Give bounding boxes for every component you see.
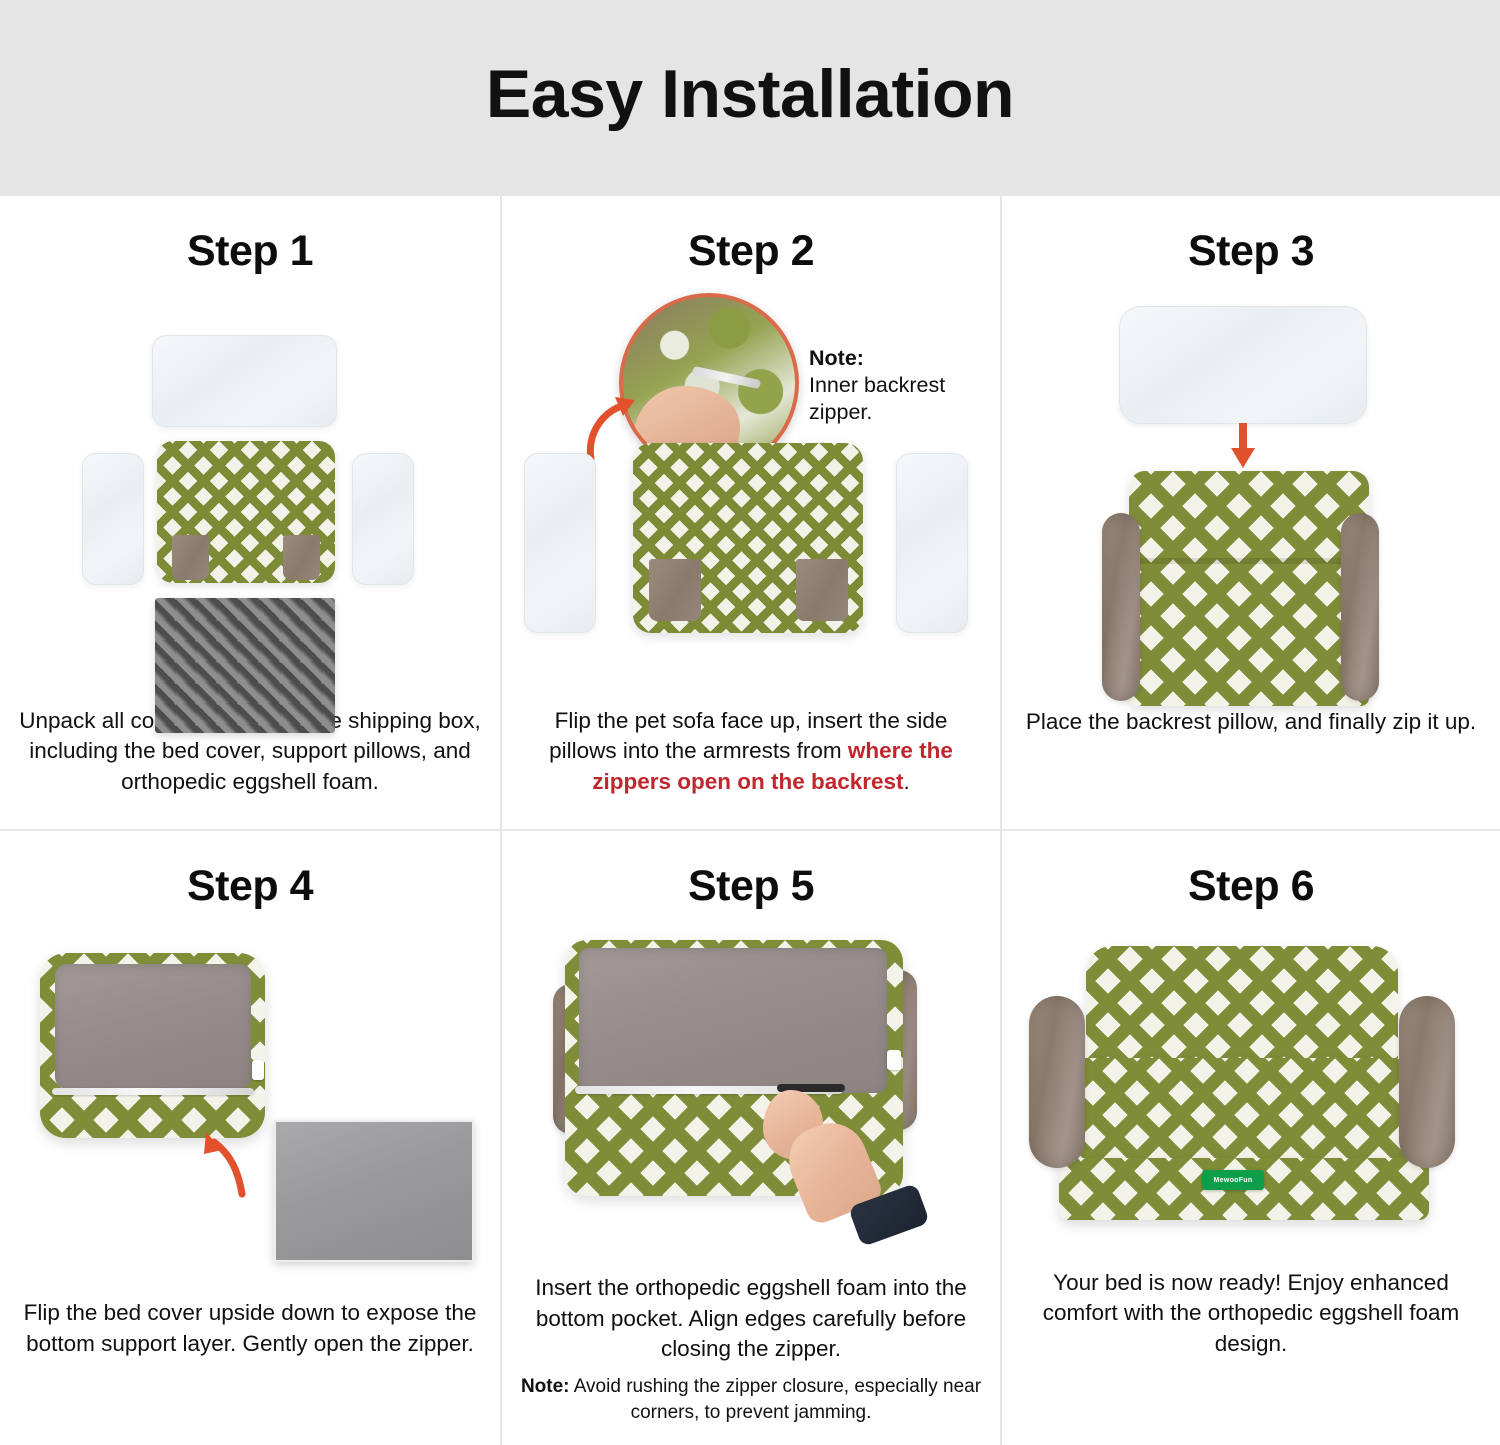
step-panel-6: Step 6 MewooFun Your bed is now ready! E…: [1000, 829, 1500, 1445]
backrest-pillow: [1119, 306, 1367, 424]
step-caption-3: Place the backrest pillow, and finally z…: [1015, 707, 1487, 737]
sofa-body: [1129, 471, 1369, 706]
foam-board: [274, 1120, 474, 1262]
note-callout: Note: Inner backrest zipper.: [809, 345, 1000, 426]
note-label-text: Note:: [809, 345, 1000, 372]
note-detail-text: Inner backrest zipper.: [809, 372, 1000, 426]
step-caption-5: Insert the orthopedic eggshell foam into…: [515, 1273, 987, 1364]
arrow-curve-icon: [198, 1128, 250, 1198]
backrest-fold: [1129, 558, 1369, 564]
arrow-down-icon: [1229, 423, 1257, 469]
step-4-illustration: [0, 908, 500, 1298]
bottom-support-layer: [55, 964, 251, 1089]
side-pillow-right: [896, 453, 968, 633]
step-5-note: Note: Avoid rushing the zipper closure, …: [508, 1374, 994, 1425]
side-pillow-left: [524, 453, 596, 633]
zipper-icon: [692, 366, 761, 389]
step-caption-6: Your bed is now ready! Enjoy enhanced co…: [1015, 1268, 1487, 1359]
zipper-pull-tab: [887, 1050, 901, 1070]
step-title-1: Step 1: [187, 230, 313, 273]
sofa-seat: [1071, 1058, 1416, 1168]
step-panel-2: Step 2 Note: Inner backrest zipper.: [500, 196, 1000, 829]
armrest-right: [1399, 996, 1455, 1168]
bed-cover-pocket-right: [283, 535, 320, 580]
note-detail-text: Avoid rushing the zipper closure, especi…: [570, 1376, 982, 1422]
step-panel-4: Step 4 Flip the bed cover upside down to…: [0, 829, 500, 1445]
bottom-support-layer: [579, 948, 887, 1093]
step-panel-3: Step 3 Place the backrest pillow, and fi…: [1000, 196, 1500, 829]
step-caption-4: Flip the bed cover upside down to expose…: [14, 1298, 486, 1359]
brand-tag-label: MewooFun: [1214, 1177, 1253, 1184]
step-2-illustration: Note: Inner backrest zipper.: [501, 273, 1000, 706]
step-title-6: Step 6: [1188, 865, 1314, 908]
step-title-5: Step 5: [688, 865, 814, 908]
eggshell-foam: [155, 598, 335, 733]
step-panel-5: Step 5 Insert the ortho: [500, 829, 1000, 1445]
page-header: Easy Installation: [0, 0, 1500, 196]
armrest-pocket-right: [796, 559, 848, 621]
step-title-4: Step 4: [187, 865, 313, 908]
sofa-backrest: [1086, 946, 1398, 1064]
side-pillow-left: [82, 453, 144, 585]
step-title-3: Step 3: [1188, 230, 1314, 273]
installation-guide-page: Easy Installation Step 1 Unpack all comp…: [0, 0, 1500, 1445]
backrest-pillow: [152, 335, 337, 427]
armrest-right: [1341, 513, 1379, 701]
caption-text-post: .: [904, 769, 910, 794]
step-5-illustration: [501, 908, 1000, 1273]
zipper-line: [52, 1088, 254, 1095]
page-title: Easy Installation: [486, 60, 1014, 128]
side-pillow-right: [352, 453, 414, 585]
step-title-2: Step 2: [688, 230, 814, 273]
armrest-left: [1102, 513, 1140, 701]
step-panel-1: Step 1 Unpack all components from the sh…: [0, 196, 500, 829]
step-3-illustration: [1001, 273, 1500, 707]
step-1-illustration: [0, 273, 500, 706]
step-caption-2: Flip the pet sofa face up, insert the si…: [515, 706, 987, 797]
brand-tag: MewooFun: [1202, 1170, 1264, 1190]
bed-cover-pocket-left: [172, 535, 209, 580]
steps-grid: Step 1 Unpack all components from the sh…: [0, 196, 1500, 1445]
note-label-text: Note:: [521, 1376, 570, 1397]
zipper-pull-tab: [252, 1060, 264, 1080]
step-6-illustration: MewooFun: [1001, 908, 1500, 1268]
armrest-pocket-left: [649, 559, 701, 621]
armrest-left: [1029, 996, 1085, 1168]
